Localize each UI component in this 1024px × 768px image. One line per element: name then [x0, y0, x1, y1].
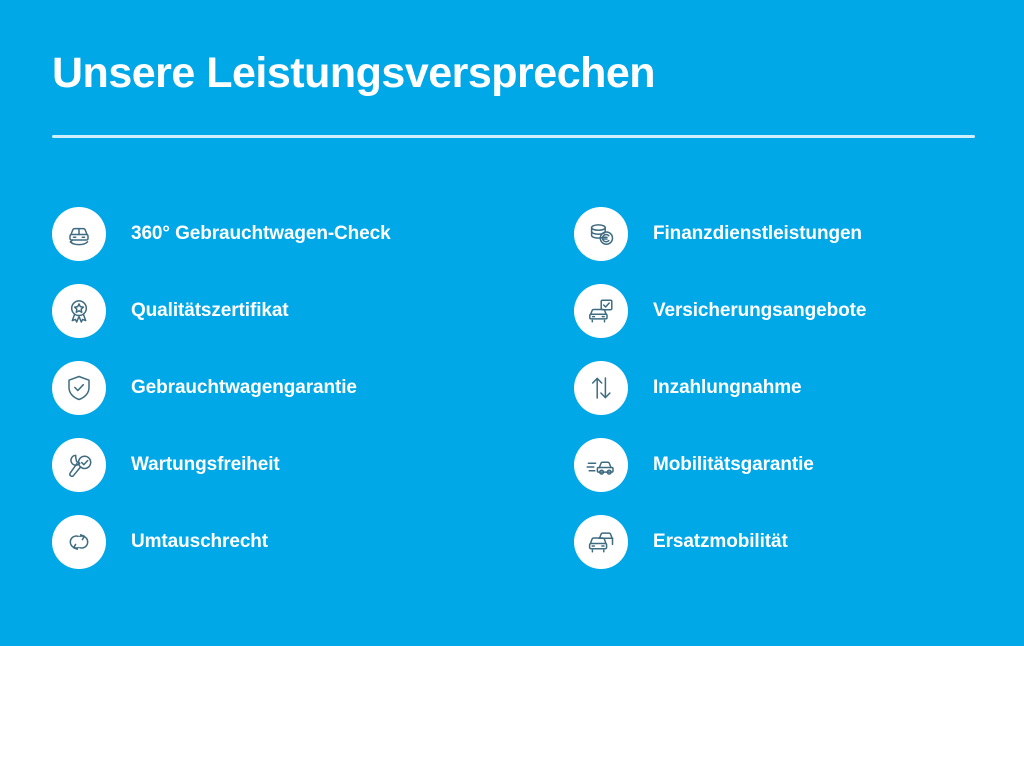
feature-item-versicherungsangebote: Versicherungsangebote	[574, 272, 994, 349]
feature-label: Gebrauchtwagengarantie	[131, 377, 357, 399]
wrench-check-icon	[52, 438, 106, 492]
feature-grid: 360° Gebrauchtwagen-Check Qualitätszerti…	[0, 195, 1024, 580]
feature-item-gebrauchtwagen-check: 360° Gebrauchtwagen-Check	[52, 195, 522, 272]
car-motion-icon	[574, 438, 628, 492]
promo-slide: Unsere Leistungsversprechen	[0, 0, 1024, 768]
exchange-arrows-icon	[52, 515, 106, 569]
feature-item-inzahlungnahme: Inzahlungnahme	[574, 349, 994, 426]
two-cars-icon	[574, 515, 628, 569]
arrows-up-down-icon	[574, 361, 628, 415]
feature-label: Ersatzmobilität	[653, 531, 788, 553]
feature-item-gebrauchtwagengarantie: Gebrauchtwagengarantie	[52, 349, 522, 426]
footer-bar: Hülpert Planetenfeldstraße	[0, 646, 1024, 768]
feature-item-wartungsfreiheit: Wartungsfreiheit	[52, 426, 522, 503]
coins-euro-icon	[574, 207, 628, 261]
feature-label: 360° Gebrauchtwagen-Check	[131, 223, 391, 245]
feature-item-umtauschrecht: Umtauschrecht	[52, 503, 522, 580]
car-360-check-icon	[52, 207, 106, 261]
hero-panel: Unsere Leistungsversprechen	[0, 0, 1024, 646]
feature-label: Versicherungsangebote	[653, 300, 866, 322]
award-rosette-icon	[52, 284, 106, 338]
feature-item-mobilitaetsgarantie: Mobilitätsgarantie	[574, 426, 994, 503]
feature-column-right: Finanzdienstleistungen Versicheru	[574, 195, 994, 580]
page-title: Unsere Leistungsversprechen	[52, 50, 655, 97]
feature-item-qualitaetszertifikat: Qualitätszertifikat	[52, 272, 522, 349]
shield-check-icon	[52, 361, 106, 415]
feature-label: Wartungsfreiheit	[131, 454, 280, 476]
feature-column-left: 360° Gebrauchtwagen-Check Qualitätszerti…	[52, 195, 522, 580]
title-divider	[52, 135, 975, 138]
car-document-check-icon	[574, 284, 628, 338]
feature-item-finanzdienstleistungen: Finanzdienstleistungen	[574, 195, 994, 272]
feature-item-ersatzmobilitaet: Ersatzmobilität	[574, 503, 994, 580]
feature-label: Mobilitätsgarantie	[653, 454, 814, 476]
feature-label: Umtauschrecht	[131, 531, 268, 553]
feature-label: Inzahlungnahme	[653, 377, 802, 399]
feature-label: Qualitätszertifikat	[131, 300, 289, 322]
feature-label: Finanzdienstleistungen	[653, 223, 862, 245]
